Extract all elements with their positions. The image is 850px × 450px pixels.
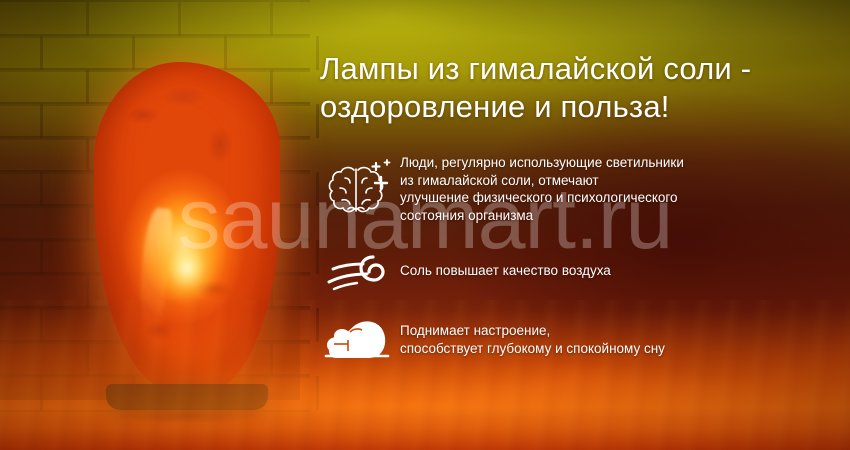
brain-plus-icon: [322, 152, 400, 230]
feature-item-air: Соль повышает качество воздуха: [322, 248, 834, 296]
feature-text-health: Люди, регулярно использующие светильники…: [400, 152, 834, 224]
feature-text-line: Соль повышает качество воздуха: [400, 262, 834, 280]
sleeping-person-icon: [322, 314, 400, 368]
headline-line-1: Лампы из гималайской соли -: [320, 51, 751, 86]
promo-banner: saunamart.ru Лампы из гималайской соли -…: [0, 0, 850, 450]
feature-text-line: Люди, регулярно использующие светильники: [400, 154, 834, 172]
feature-text-line: из гималайской соли, отмечают: [400, 172, 834, 190]
headline-line-2: оздоровление и польза!: [320, 89, 670, 124]
page-title: Лампы из гималайской соли - оздоровление…: [320, 50, 830, 126]
feature-text-air: Соль повышает качество воздуха: [400, 248, 834, 280]
feature-list: Люди, регулярно использующие светильники…: [322, 152, 834, 386]
feature-item-sleep: Поднимает настроение, способствует глубо…: [322, 314, 834, 368]
wind-swirl-icon: [322, 248, 400, 296]
feature-text-line: состояния организма: [400, 207, 834, 225]
feature-text-sleep: Поднимает настроение, способствует глубо…: [400, 314, 834, 357]
feature-text-line: способствует глубокому и спокойному сну: [400, 340, 834, 358]
feature-text-line: улучшение физического и психологического: [400, 189, 834, 207]
feature-text-line: Поднимает настроение,: [400, 322, 834, 340]
feature-item-health: Люди, регулярно использующие светильники…: [322, 152, 834, 230]
